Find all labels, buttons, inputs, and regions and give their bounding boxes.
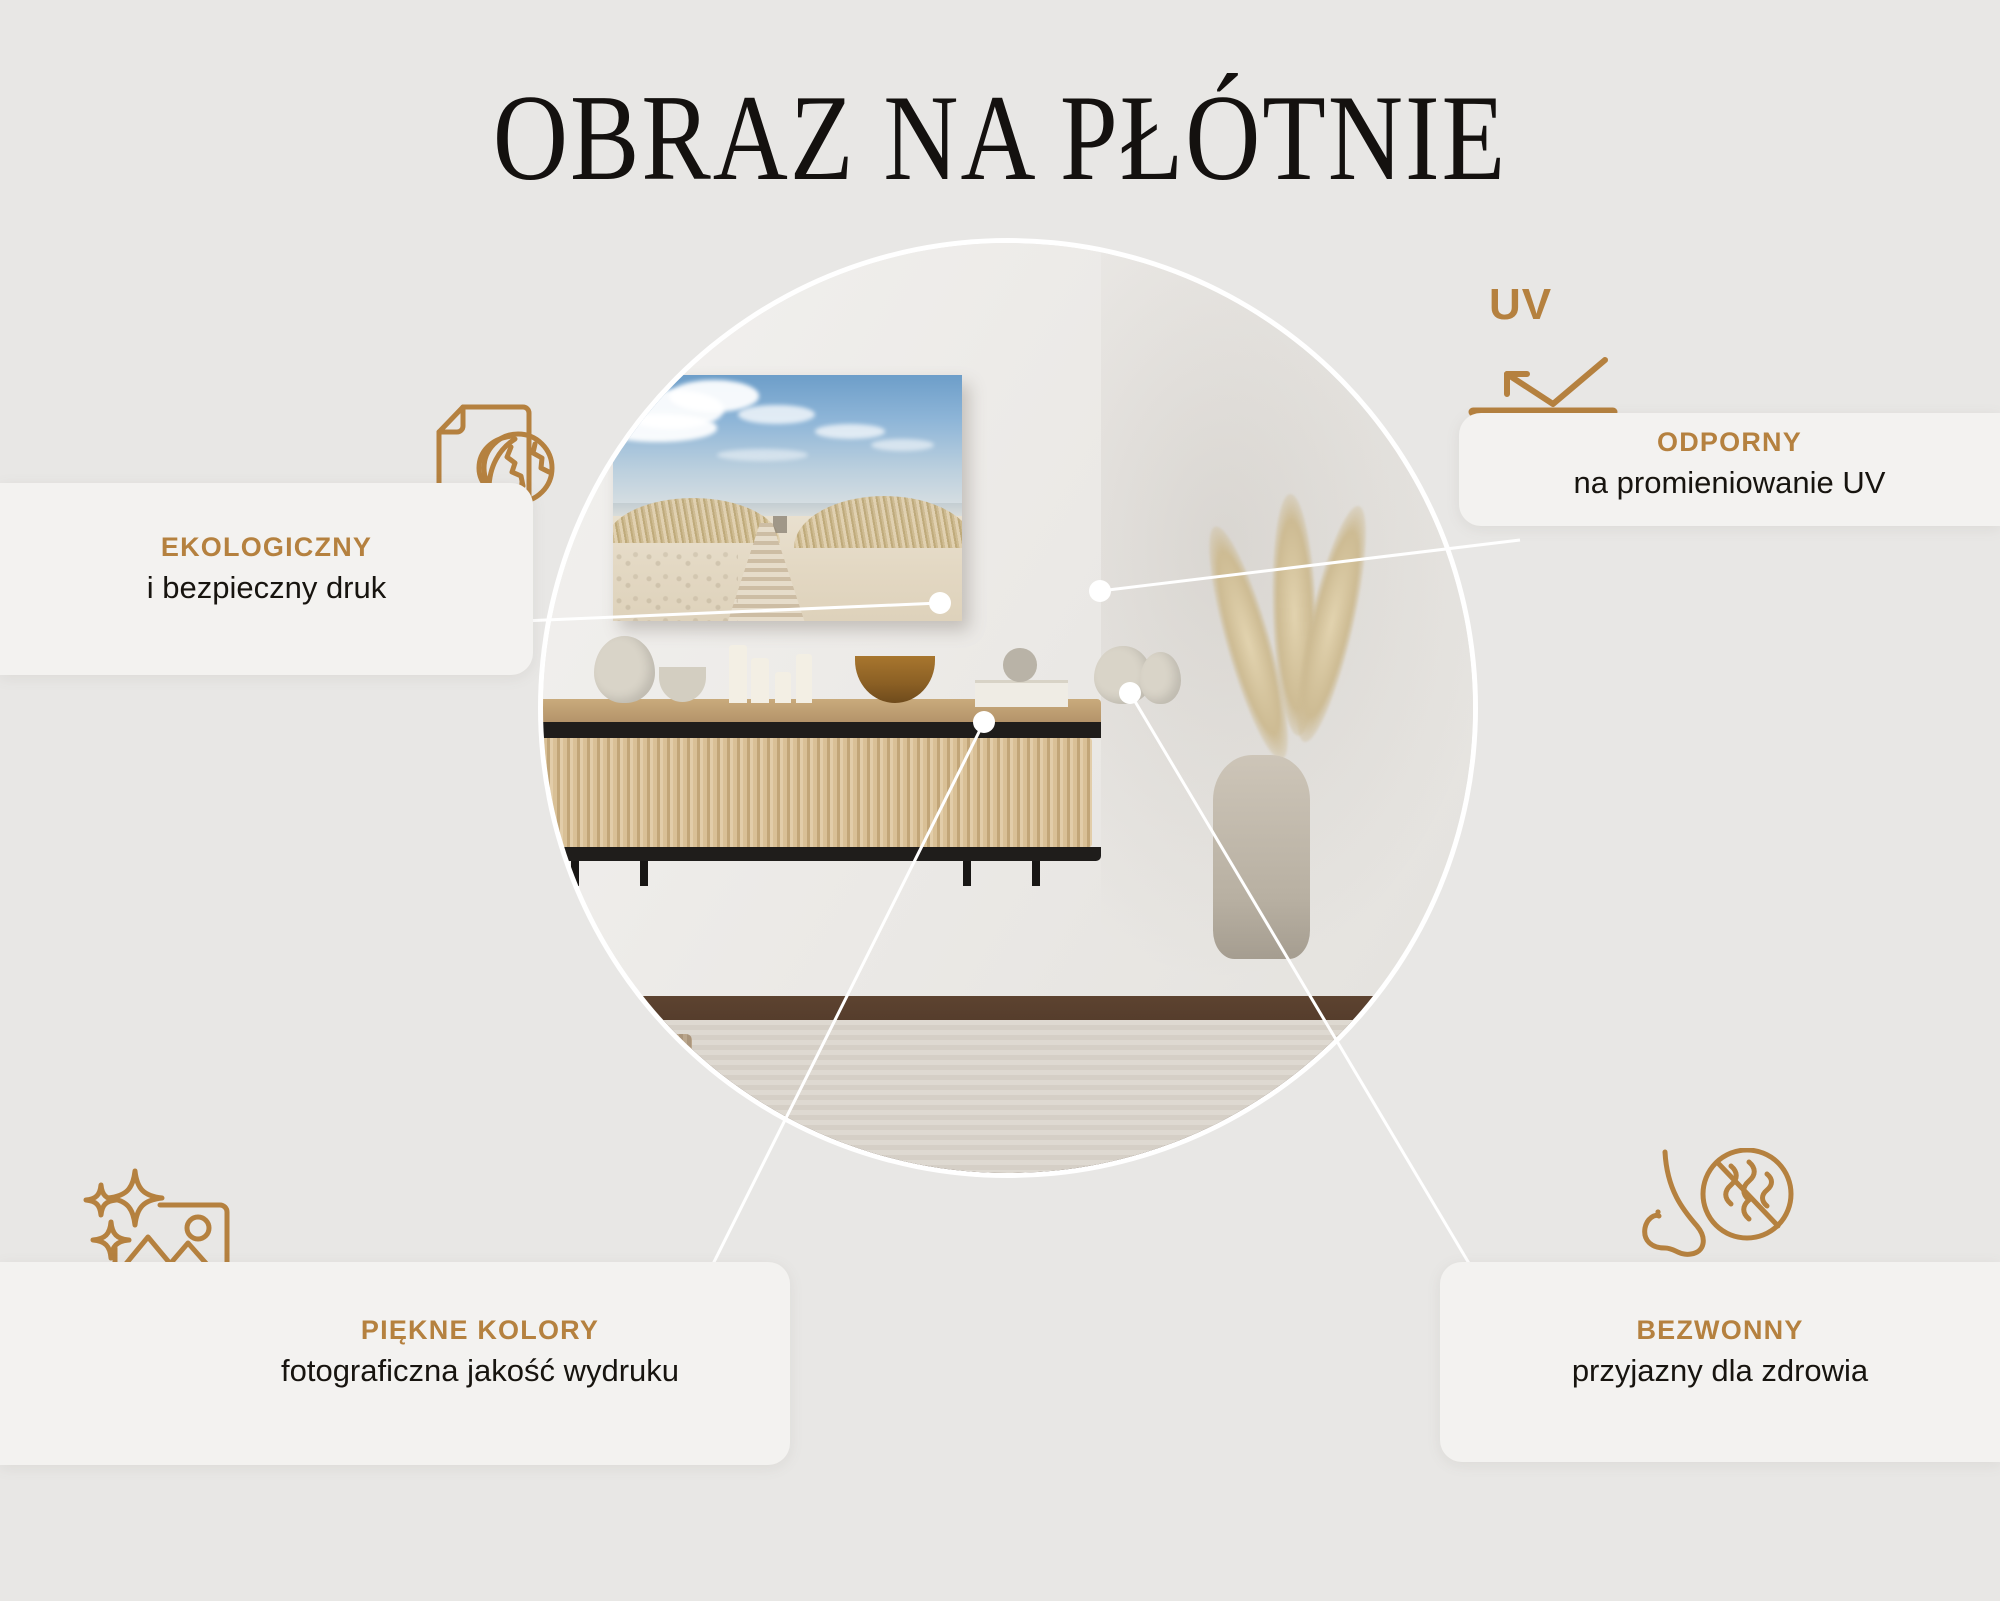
sand-footprints — [613, 548, 739, 622]
sideboard-leg — [963, 861, 971, 886]
uv-badge-label: UV — [1489, 280, 1552, 330]
cloud — [613, 414, 718, 441]
sideboard-fluted-doors — [543, 738, 1092, 848]
decor-candle — [729, 645, 747, 704]
decor-books — [975, 680, 1068, 707]
basket — [571, 1034, 692, 1118]
feature-card-odorless: BEZWONNY przyjazny dla zdrowia — [1440, 1262, 2000, 1462]
feature-card-eco: EKOLOGICZNY i bezpieczny druk — [0, 483, 533, 675]
decor-candle — [751, 658, 769, 704]
sideboard-leg — [1032, 861, 1040, 886]
sideboard-leg — [640, 861, 648, 886]
decor-candle — [775, 672, 792, 704]
feature-card-colors: PIĘKNE KOLORY fotograficzna jakość wydru… — [0, 1262, 790, 1465]
sideboard-band — [543, 722, 1101, 738]
room-scene-circle — [543, 243, 1473, 1173]
decor-stone — [1003, 648, 1036, 681]
uv-ray-reflect-icon — [1465, 340, 1655, 420]
page-title: OBRAZ NA PŁÓTNIE — [0, 74, 2000, 203]
feature-uv-subtext: na promieniowanie UV — [1459, 465, 2000, 501]
feature-card-uv: ODPORNY na promieniowanie UV — [1459, 413, 2000, 526]
room-interior — [543, 243, 1473, 1173]
feature-eco-heading: EKOLOGICZNY — [0, 533, 533, 563]
feature-colors-subtext: fotograficzna jakość wydruku — [170, 1353, 790, 1389]
decor-vase-large — [594, 636, 654, 703]
sideboard-leg — [571, 861, 579, 886]
pampas-vase — [1213, 755, 1311, 960]
infographic-stage: OBRAZ NA PŁÓTNIE — [0, 0, 2000, 1601]
feature-odorless-subtext: przyjazny dla zdrowia — [1440, 1353, 2000, 1389]
boardwalk-rail — [773, 516, 787, 533]
cloud — [738, 405, 815, 425]
feature-eco-subtext: i bezpieczny druk — [0, 570, 533, 606]
canvas-artwork — [613, 375, 962, 621]
cloud — [669, 380, 760, 412]
decor-candle — [796, 654, 812, 703]
sideboard — [543, 699, 1101, 876]
cloud — [815, 424, 885, 439]
feature-odorless-heading: BEZWONNY — [1440, 1316, 2000, 1346]
sideboard-base — [543, 847, 1101, 861]
decor-vase-pair — [1140, 652, 1181, 704]
feature-colors-heading: PIĘKNE KOLORY — [170, 1316, 790, 1346]
feature-uv-heading: ODPORNY — [1459, 428, 2000, 458]
